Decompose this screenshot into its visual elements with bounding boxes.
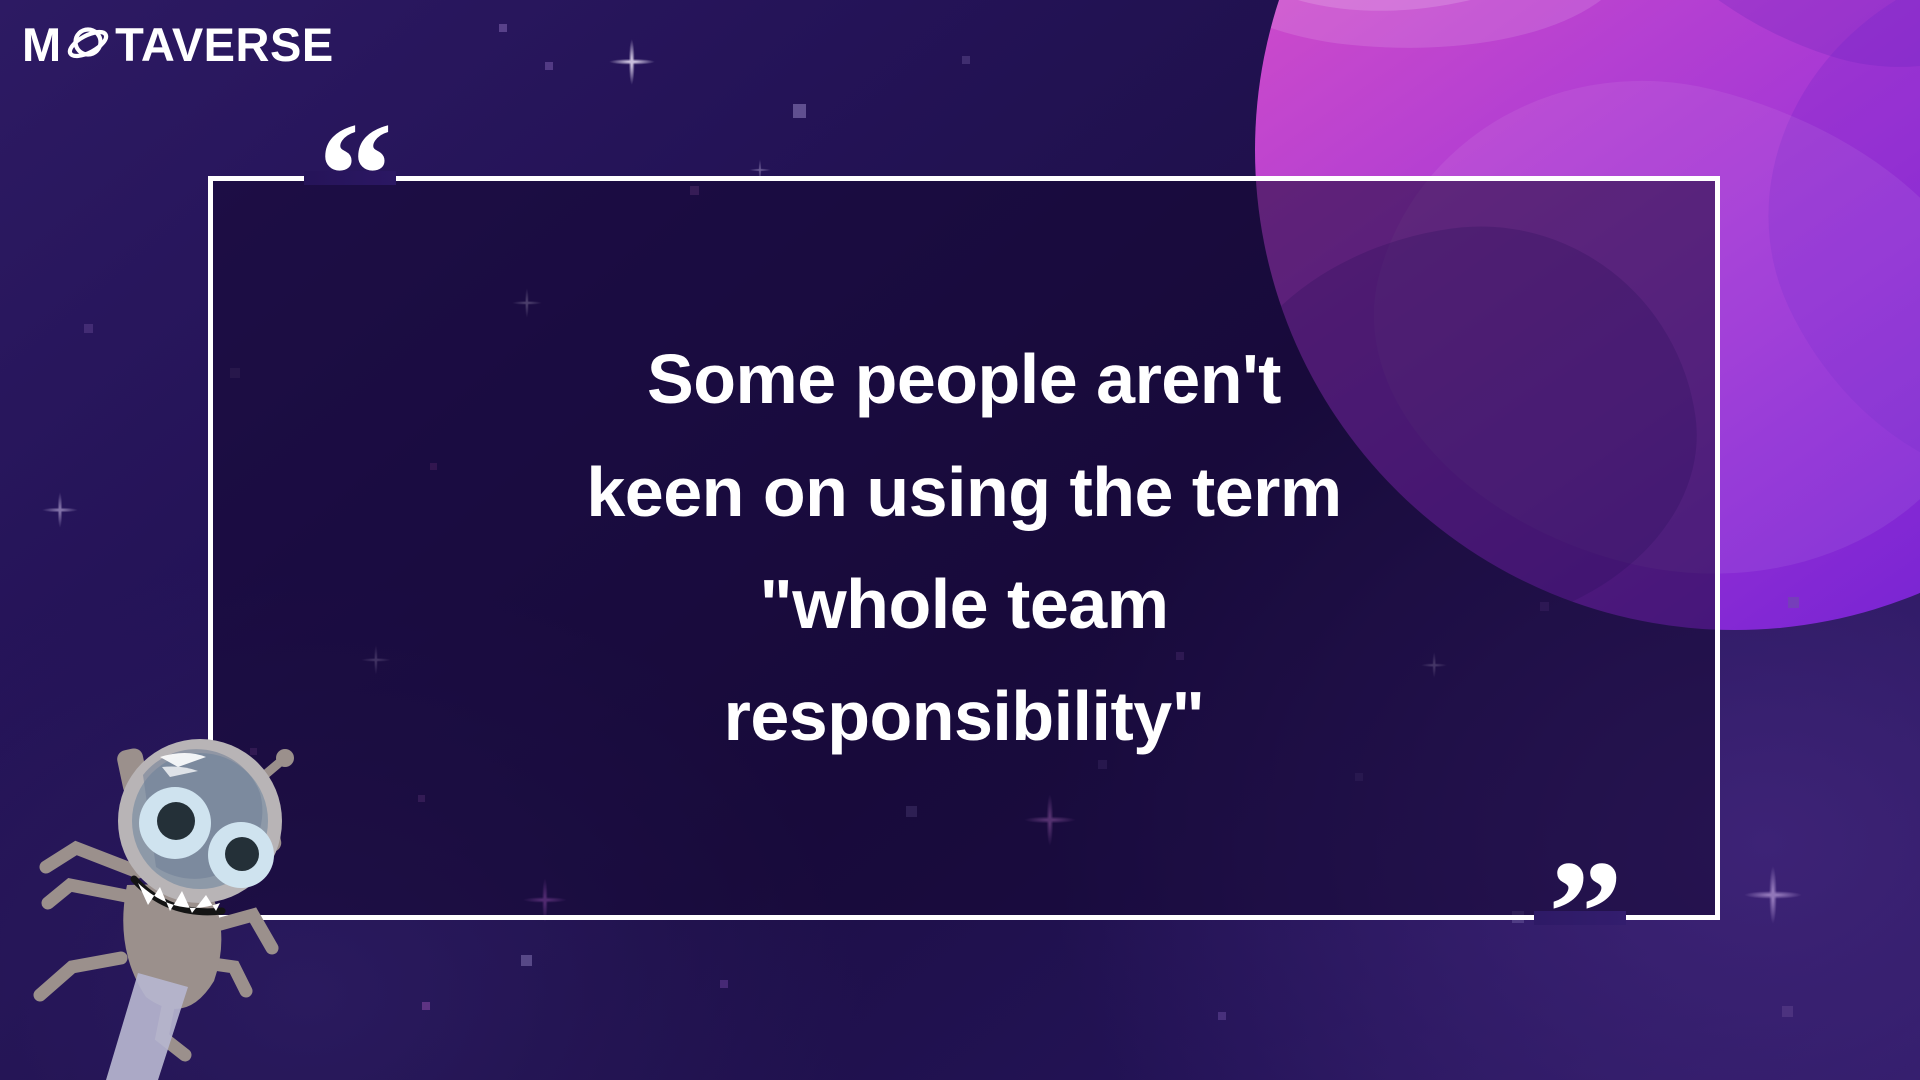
quote-line: keen on using the term (586, 439, 1341, 545)
star-dot (422, 1002, 430, 1010)
star-sparkle-icon (609, 39, 655, 85)
space-bug-mascot (10, 715, 340, 1080)
quote-line: Some people aren't (647, 326, 1281, 432)
quote-line: responsibility" (724, 663, 1205, 769)
star-sparkle-icon (1744, 866, 1802, 924)
star-dot (521, 955, 532, 966)
star-dot (499, 24, 507, 32)
star-sparkle-icon (42, 492, 78, 528)
star-dot (962, 56, 970, 64)
quote-card-canvas: M TAVERSE “ ” Some people aren't keen on… (0, 0, 1920, 1080)
star-dot (1782, 1006, 1793, 1017)
brand-logo[interactable]: M TAVERSE (22, 18, 334, 70)
brand-logo-prefix: M (22, 21, 60, 68)
star-dot (1218, 1012, 1226, 1020)
star-dot (84, 324, 93, 333)
quote-line: "whole team (760, 551, 1169, 657)
saturn-planet-icon (62, 18, 114, 70)
star-dot (545, 62, 553, 70)
planet-blob (1255, 0, 1646, 73)
star-dot (793, 104, 806, 118)
brand-logo-suffix: TAVERSE (115, 21, 334, 68)
quote-text-block: Some people aren't keen on using the ter… (208, 176, 1720, 920)
star-dot (720, 980, 728, 988)
